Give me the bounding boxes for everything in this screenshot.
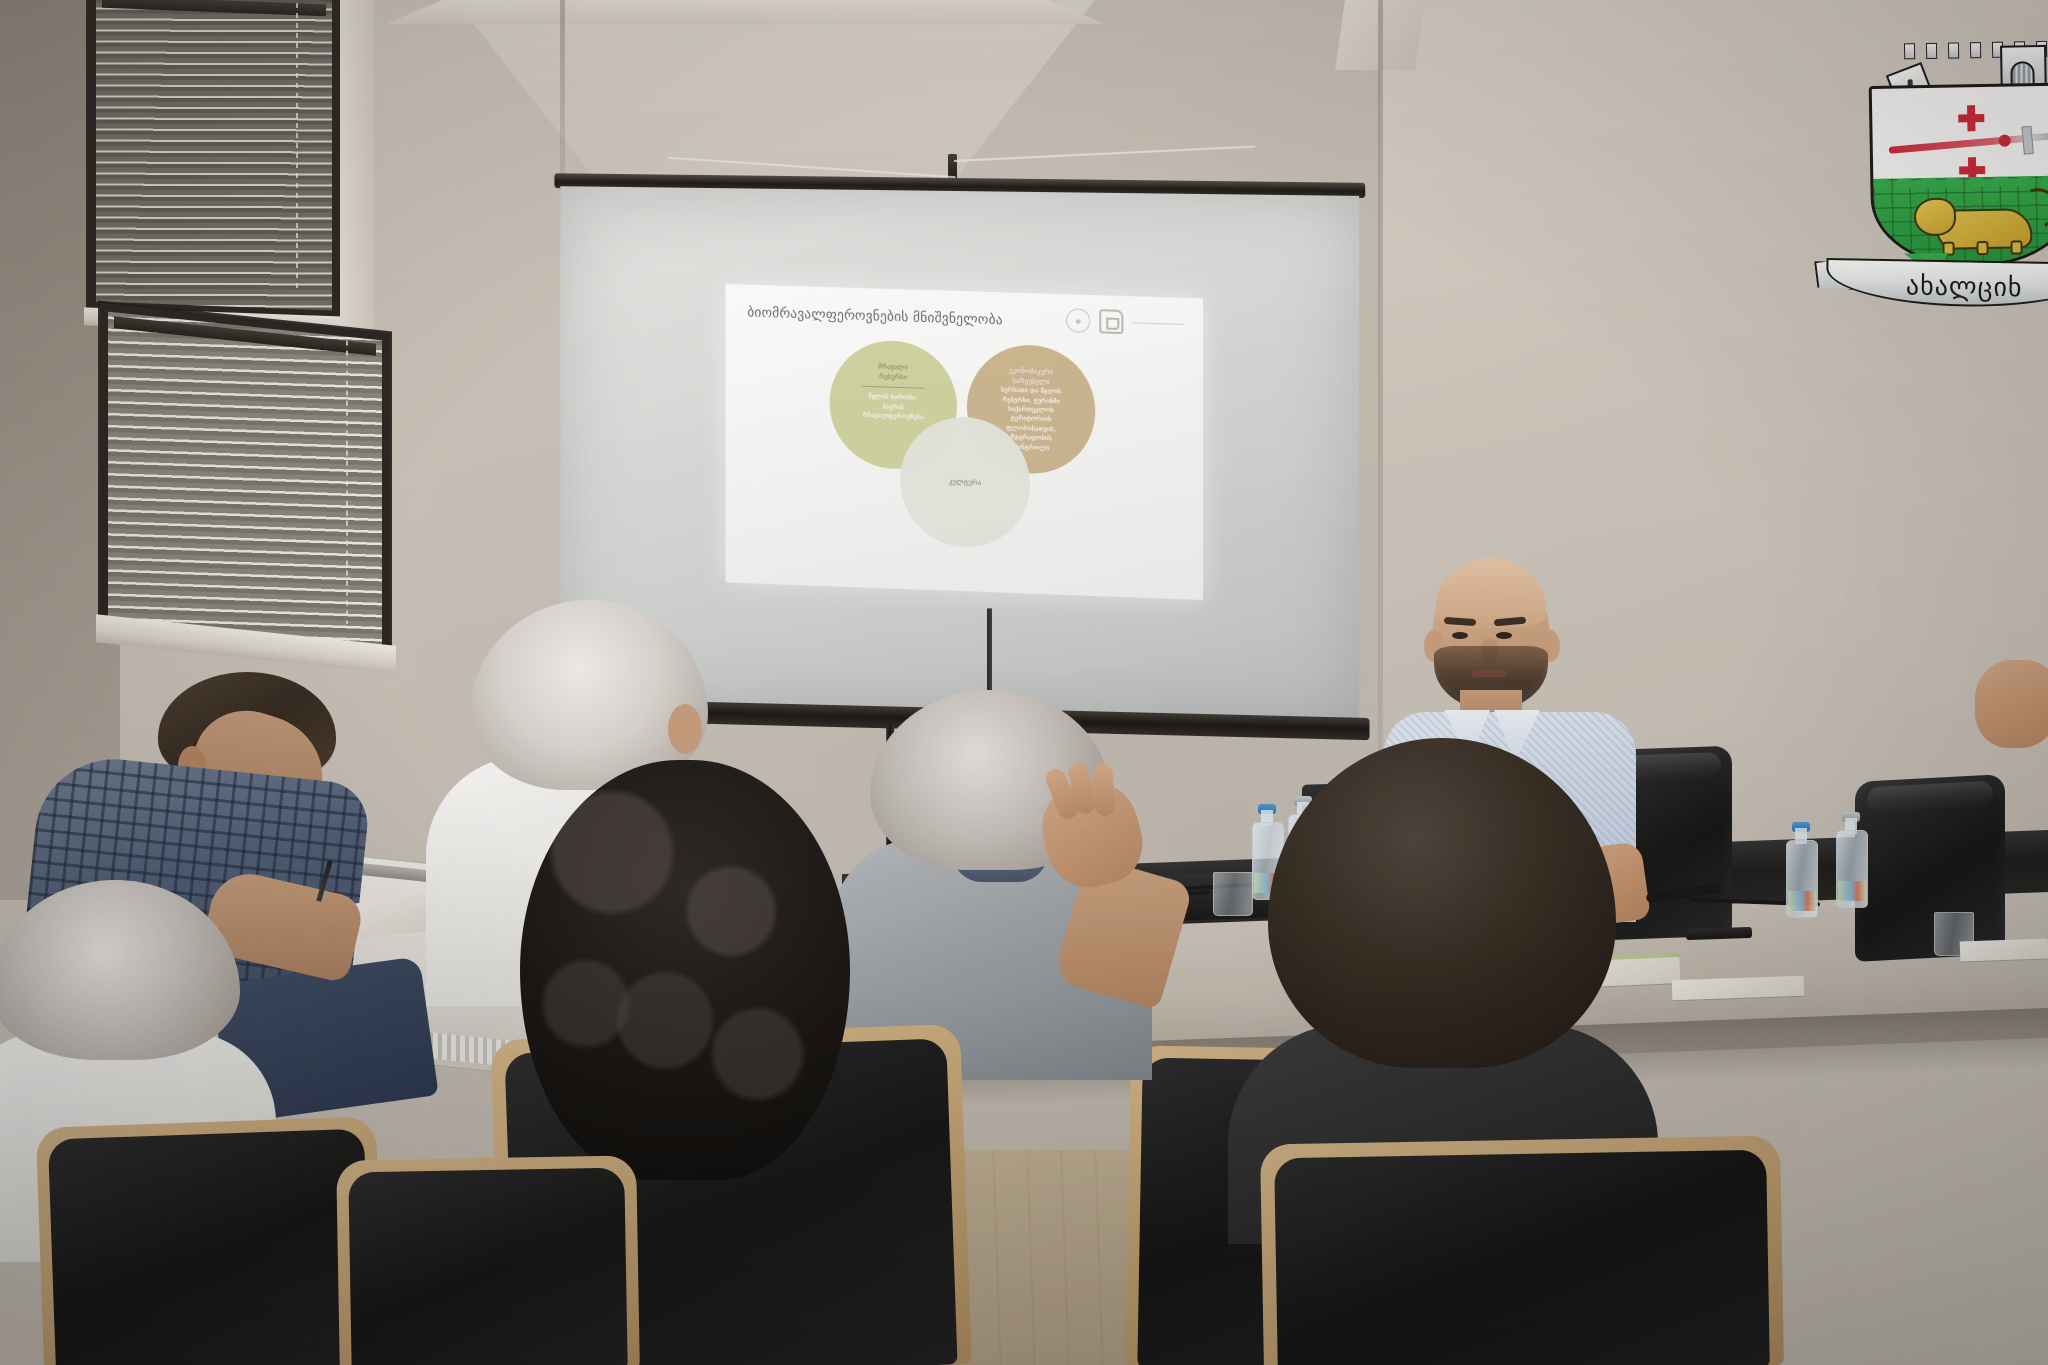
window-reveal: [340, 0, 374, 333]
square-bracket-logo-icon: [1099, 309, 1123, 334]
attendee-hand: [1975, 660, 2048, 748]
crest-banner: ახალციხ: [1826, 252, 2048, 319]
wall-crenellation: [1873, 175, 2048, 188]
bottle-label: [1838, 881, 1866, 901]
window-lower-left: [100, 303, 390, 663]
coat-of-arms-akhaltsikhe: ახალციხ: [1833, 7, 2048, 312]
window-upper-left: [88, 0, 340, 325]
remote-control[interactable]: [1686, 927, 1752, 940]
attendee-hair: [0, 880, 240, 1060]
water-bottle[interactable]: [1786, 822, 1816, 916]
attendee-dark-hair: [1268, 738, 1618, 1198]
conference-room-photo: ბიომრავალფეროვნების მნიშვნელობა ◈ მრავალ…: [0, 0, 2048, 1365]
crest-shield: [1869, 82, 2048, 268]
bubble-body: წყლის ხარისხი,ჰაერისმრავალფეროვნება: [853, 392, 933, 423]
sword-hilt: [2021, 126, 2033, 155]
bottle-body: [1786, 840, 1818, 918]
gold-lion-icon: [1914, 190, 2047, 254]
attendee-hair: [1268, 738, 1616, 1068]
sword-pommel: [1999, 135, 2011, 147]
bottle-label: [1788, 891, 1816, 911]
venn-diagram: მრავალირესურსი წყლის ხარისხი,ჰაერისმრავა…: [726, 322, 1203, 600]
attendee-hair: [520, 760, 850, 1180]
document-stack[interactable]: [1960, 938, 2048, 961]
logo-rule: [1132, 322, 1184, 325]
attendee-finger: [1092, 763, 1116, 816]
audience-chair[interactable]: [48, 1129, 372, 1365]
presenter-mouth: [1472, 670, 1506, 677]
executive-chair[interactable]: [1855, 774, 2005, 962]
attendee-ear: [668, 704, 702, 754]
blind-cord[interactable]: [346, 341, 348, 625]
presenter-eye: [1452, 632, 1468, 639]
circular-emblem-logo-icon: ◈: [1066, 308, 1090, 333]
mural-crown: [1862, 30, 2048, 90]
presenter-eye: [1496, 632, 1512, 639]
cross-icon: [1958, 105, 1984, 131]
venetian-blinds-icon[interactable]: [96, 0, 332, 311]
water-bottle[interactable]: [1836, 812, 1866, 906]
attendee-grey-hair-hand-raised: [856, 690, 1156, 1070]
blind-headrail: [102, 0, 326, 16]
bubble-heading: მრავალირესურსი: [862, 362, 924, 383]
venetian-blinds-icon[interactable]: [108, 312, 382, 649]
bottle-body: [1836, 830, 1868, 908]
bubble-heading: კულტურა: [941, 476, 990, 488]
drinking-glass[interactable]: [1213, 872, 1253, 916]
ceiling-edge: [385, 0, 1105, 24]
attendee-partial-right-edge: [1975, 660, 2048, 800]
blind-cord[interactable]: [296, 3, 298, 288]
bubble-heading: ეკონომიკურისარგებელი: [993, 366, 1069, 388]
projected-slide: ბიომრავალფეროვნების მნიშვნელობა ◈ მრავალ…: [726, 284, 1203, 600]
slide-logos: ◈: [1066, 308, 1185, 336]
lion-head: [1914, 198, 1957, 237]
audience-chair[interactable]: [1274, 1150, 1770, 1365]
audience-chair[interactable]: [348, 1168, 627, 1365]
bubble-divider: [862, 386, 924, 389]
banner-text: ახალციხ: [1826, 270, 2048, 305]
